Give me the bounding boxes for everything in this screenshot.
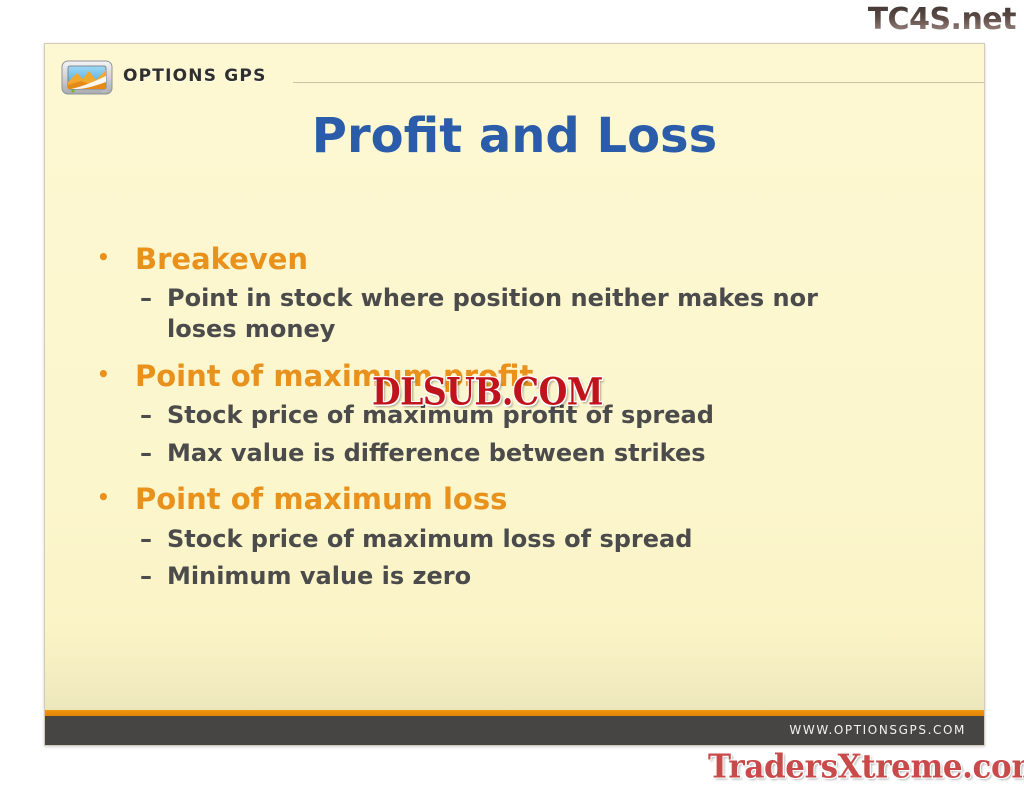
bullet-group: • Point of maximum loss – Stock price of… [97, 482, 954, 592]
gps-device-icon [61, 59, 113, 97]
sub-bullet-item: – Point in stock where position neither … [97, 283, 954, 344]
slide-header: Options GPS [45, 44, 984, 96]
bullet-marker: • [97, 359, 135, 389]
sub-bullet-label: Max value is difference between strikes [167, 438, 887, 469]
page-title: Profit and Loss [45, 108, 984, 164]
bullet-item: • Point of maximum loss [97, 482, 954, 516]
bullet-marker: • [97, 482, 135, 512]
sub-bullet-item: – Stock price of maximum loss of spread [97, 524, 954, 555]
slide-footer: www.OptionsGPS.com [45, 716, 984, 745]
sub-bullet-label: Point in stock where position neither ma… [167, 283, 887, 344]
sub-bullet-label: Stock price of maximum loss of spread [167, 524, 887, 555]
sub-bullet-marker: – [140, 524, 167, 555]
sub-bullet-item: – Minimum value is zero [97, 561, 954, 592]
logo-text: Options GPS [123, 66, 267, 86]
bullet-item: • Breakeven [97, 242, 954, 276]
site-brand-tc4s: TC4S.net [868, 2, 1016, 37]
footer-url: www.OptionsGPS.com [789, 723, 966, 737]
bullet-label: Point of maximum loss [135, 482, 954, 516]
sub-bullet-marker: – [140, 438, 167, 469]
bullet-marker: • [97, 242, 135, 272]
sub-bullet-marker: – [140, 283, 167, 314]
sub-bullet-marker: – [140, 561, 167, 592]
watermark-dlsub: DLSUB.COM [372, 370, 603, 414]
watermark-tradersxtreme: TradersXtreme.com [708, 748, 1024, 786]
bullet-label: Breakeven [135, 242, 954, 276]
bullet-group: • Breakeven – Point in stock where posit… [97, 242, 954, 345]
sub-bullet-item: – Max value is difference between strike… [97, 438, 954, 469]
sub-bullet-label: Minimum value is zero [167, 561, 887, 592]
header-divider [293, 82, 984, 83]
sub-bullet-marker: – [140, 400, 167, 431]
